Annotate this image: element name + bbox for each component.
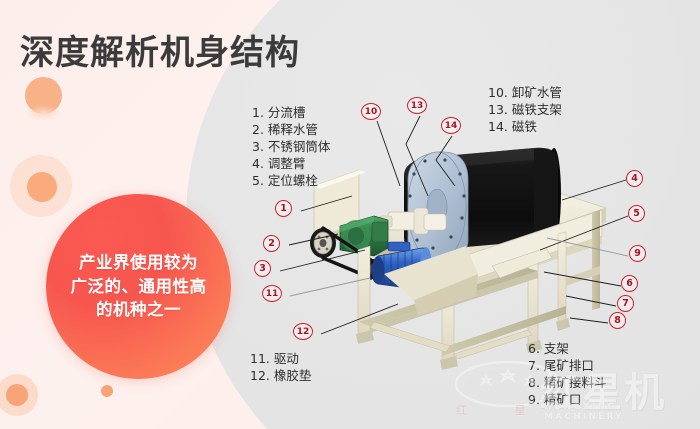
- callout-marker-3[interactable]: 3: [254, 260, 271, 277]
- callout-marker-5[interactable]: 5: [628, 205, 645, 222]
- infographic-canvas: 深度解析机身结构 产业界使用较为 广泛的、通用性高 的机种之一: [0, 0, 700, 429]
- machine-end-disc: [408, 152, 468, 262]
- callout-marker-4[interactable]: 4: [626, 170, 643, 187]
- list-item-num: 14.: [488, 119, 508, 134]
- label-list-bottom-right: 6. 支架 7. 尾矿排口 8. 精矿接料斗 9. 精矿口: [528, 340, 606, 408]
- callout-marker-9[interactable]: 9: [629, 245, 646, 262]
- list-item: 2. 稀释水管: [252, 121, 330, 138]
- list-item: 1. 分流槽: [252, 104, 330, 121]
- list-item-label: 驱动: [274, 351, 299, 366]
- slogan-line-2: 广泛的、通用性高: [71, 277, 207, 296]
- decor-dot: [101, 385, 113, 397]
- list-item-label: 精矿口: [544, 392, 582, 407]
- callout-marker-14[interactable]: 14: [441, 117, 461, 134]
- list-item-num: 4.: [252, 156, 264, 171]
- callout-marker-1[interactable]: 1: [275, 200, 292, 217]
- list-item-label: 支架: [544, 341, 569, 356]
- list-item: 9. 精矿口: [528, 391, 606, 408]
- list-item: 11. 驱动: [250, 350, 311, 367]
- list-item-num: 7.: [528, 358, 540, 373]
- list-item-num: 3.: [252, 139, 264, 154]
- list-item-num: 8.: [528, 375, 540, 390]
- list-item-label: 定位螺栓: [268, 173, 318, 188]
- list-item-num: 9.: [528, 392, 540, 407]
- list-item-num: 5.: [252, 173, 264, 188]
- decor-dot: [6, 384, 28, 406]
- list-item-num: 12.: [250, 368, 270, 383]
- magnetic-separator-illustration: [296, 138, 610, 370]
- list-item: 13. 磁铁支架: [488, 101, 562, 118]
- callout-marker-2[interactable]: 2: [263, 235, 280, 252]
- callout-marker-12[interactable]: 12: [293, 323, 313, 340]
- list-item-label: 卸矿水管: [512, 85, 562, 100]
- list-item-num: 1.: [252, 105, 264, 120]
- slogan-circle: 产业界使用较为 广泛的、通用性高 的机种之一: [46, 194, 231, 379]
- list-item-num: 6.: [528, 341, 540, 356]
- callout-marker-6[interactable]: 6: [621, 275, 638, 292]
- callout-marker-10[interactable]: 10: [361, 103, 381, 120]
- list-item-label: 不锈钢筒体: [268, 139, 331, 154]
- list-item-num: 13.: [488, 102, 508, 117]
- list-item: 5. 定位螺栓: [252, 172, 330, 189]
- list-item-label: 调整臂: [268, 156, 306, 171]
- list-item: 14. 磁铁: [488, 118, 562, 135]
- list-item-label: 橡胶垫: [274, 368, 312, 383]
- list-item-num: 10.: [488, 85, 508, 100]
- decor-dot-halo: [25, 105, 62, 121]
- list-item-num: 2.: [252, 122, 264, 137]
- list-item: 6. 支架: [528, 340, 606, 357]
- list-item: 8. 精矿接料斗: [528, 374, 606, 391]
- callout-marker-7[interactable]: 7: [617, 295, 634, 312]
- callout-marker-11[interactable]: 11: [262, 285, 282, 302]
- slogan-line-3: 的机种之一: [96, 300, 181, 319]
- slogan-text: 产业界使用较为 广泛的、通用性高 的机种之一: [55, 251, 223, 323]
- list-item-label: 分流槽: [268, 105, 306, 120]
- callout-marker-8[interactable]: 8: [609, 312, 626, 329]
- list-item: 3. 不锈钢筒体: [252, 138, 330, 155]
- slogan-line-1: 产业界使用较为: [79, 253, 198, 272]
- label-list-bottom-left: 11. 驱动 12. 橡胶垫: [250, 350, 311, 384]
- list-item: 12. 橡胶垫: [250, 367, 311, 384]
- list-item-label: 精矿接料斗: [544, 375, 607, 390]
- list-item-label: 稀释水管: [268, 122, 318, 137]
- list-item-label: 尾矿排口: [544, 358, 594, 373]
- list-item-num: 11.: [250, 351, 270, 366]
- list-item-label: 磁铁支架: [512, 102, 562, 117]
- label-list-left: 1. 分流槽 2. 稀释水管 3. 不锈钢筒体 4. 调整臂 5. 定位螺栓: [252, 104, 330, 189]
- decor-dot: [27, 172, 57, 202]
- list-item-label: 磁铁: [512, 119, 537, 134]
- list-item: 10. 卸矿水管: [488, 84, 562, 101]
- label-list-top-right: 10. 卸矿水管 13. 磁铁支架 14. 磁铁: [488, 84, 562, 135]
- list-item: 7. 尾矿排口: [528, 357, 606, 374]
- list-item: 4. 调整臂: [252, 155, 330, 172]
- page-title: 深度解析机身结构: [20, 25, 300, 74]
- callout-marker-13[interactable]: 13: [407, 97, 427, 114]
